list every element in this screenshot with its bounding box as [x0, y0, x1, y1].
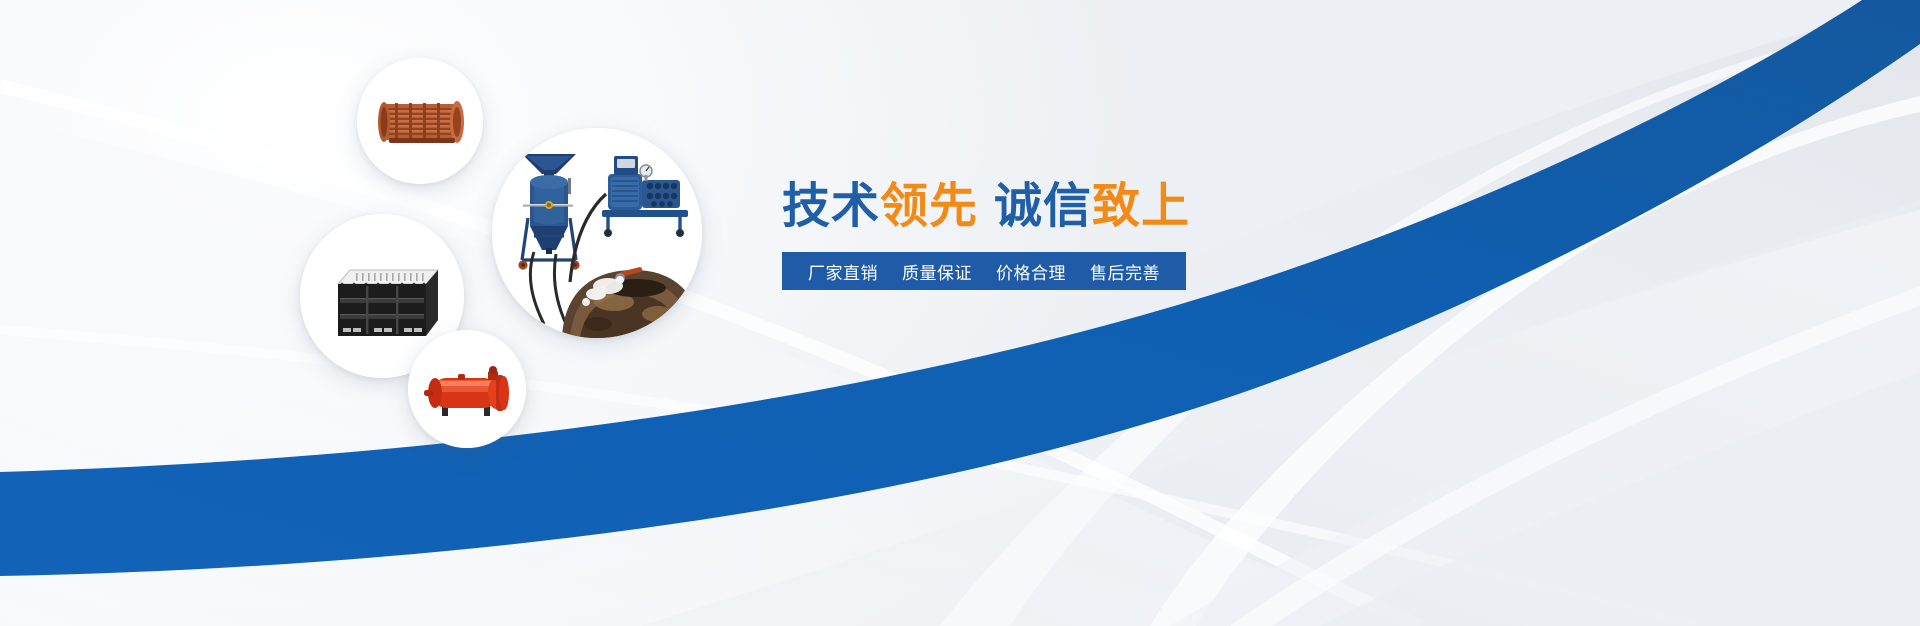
- tagline-item-4: 售后完善: [1090, 259, 1160, 284]
- promotional-banner: 技术领先诚信致上 厂家直销 质量保证 价格合理 售后完善: [0, 0, 1920, 626]
- page-title: 技术领先诚信致上: [782, 183, 1212, 231]
- tagline-item-1: 厂家直销: [808, 259, 878, 284]
- product-circle-red-pressure-vessel: [408, 330, 526, 448]
- banner-copy: 技术领先诚信致上 厂家直销 质量保证 价格合理 售后完善: [782, 183, 1212, 290]
- headline-segment-2: 领先: [880, 180, 978, 233]
- background-decoration: [0, 0, 1920, 626]
- headline-segment-3: 诚信: [994, 180, 1092, 233]
- headline-segment-4: 致上: [1092, 180, 1190, 233]
- headline-segment-1: 技术: [782, 180, 880, 233]
- product-circle-copper-tube-bundle: [357, 58, 483, 184]
- tagline-bar: 厂家直销 质量保证 价格合理 售后完善: [782, 252, 1186, 290]
- tagline-item-2: 质量保证: [902, 259, 972, 284]
- tagline-item-3: 价格合理: [996, 259, 1066, 284]
- product-circle-sandblasting-tank-and-pump: [492, 128, 702, 338]
